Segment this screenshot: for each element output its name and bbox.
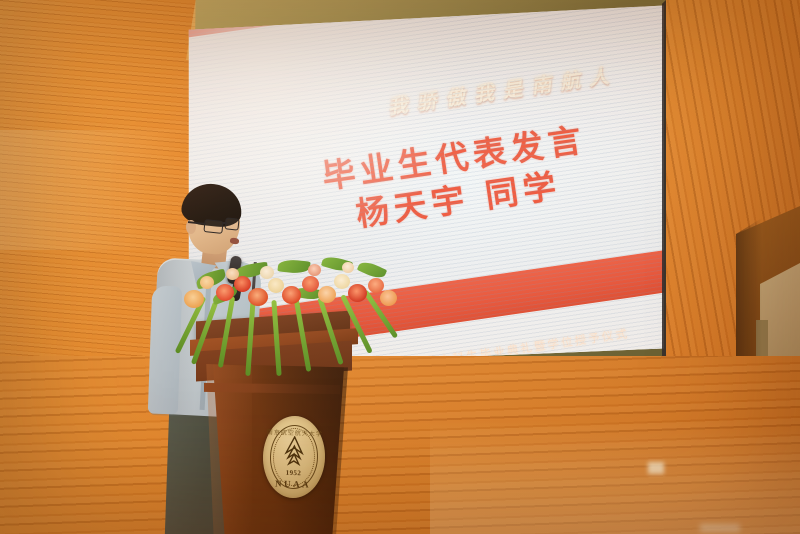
eyeglasses-icon [224, 217, 239, 230]
eyeglasses-icon [203, 219, 223, 234]
floor-light-reflection [648, 462, 664, 474]
nuaa-founding-year: 1952 [262, 468, 324, 478]
floor-light-reflection [700, 524, 740, 532]
floor-reflection [430, 420, 800, 534]
auditorium-scene: 我骄傲我是南航人 毕业生代表发言 杨天宇 同学 届自动化学院本科生毕业典礼暨学位… [0, 0, 800, 534]
nuaa-emblem: 南京航空航天大学 1952 NUAA [262, 415, 327, 499]
speaker-mouth [230, 237, 240, 244]
screen-right-edge [662, 0, 666, 380]
nuaa-acronym: NUAA [262, 478, 324, 490]
floral-arrangement [182, 250, 402, 360]
